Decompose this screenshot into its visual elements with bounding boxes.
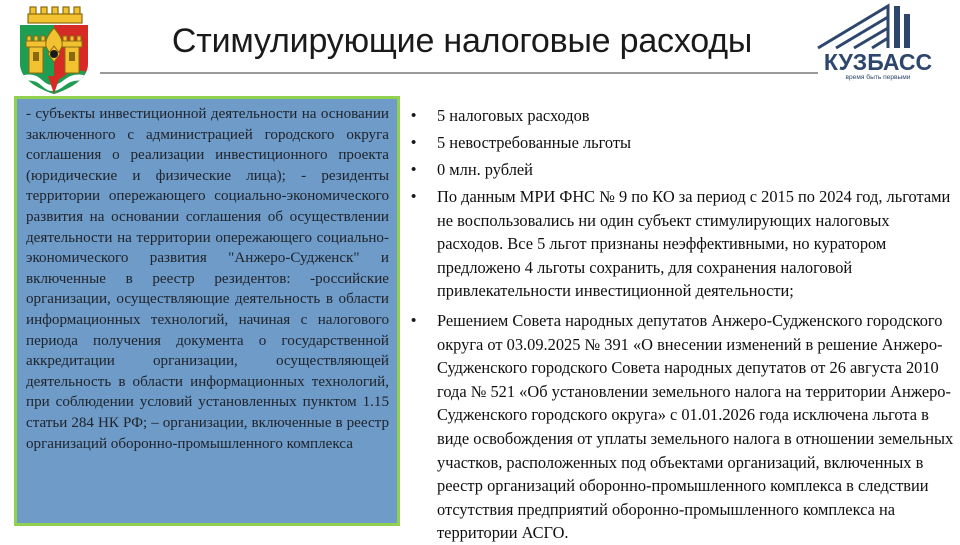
bullet-icon: •	[406, 158, 437, 182]
list-item: • 5 налоговых расходов	[406, 104, 954, 128]
slide-header: Стимулирующие налоговые расходы КУЗБАСС …	[0, 0, 960, 92]
page-title: Стимулирующие налоговые расходы	[112, 16, 812, 68]
bullet-icon: •	[406, 104, 437, 128]
list-item-text: По данным МРИ ФНС № 9 по КО за период с …	[437, 185, 954, 303]
slide: Стимулирующие налоговые расходы КУЗБАСС …	[0, 0, 960, 540]
kuzbass-logo: КУЗБАСС время быть первыми	[802, 2, 954, 82]
bullet-icon: •	[406, 309, 437, 333]
criteria-text: - субъекты инвестиционной деятельности н…	[26, 104, 389, 454]
list-item: • 0 млн. рублей	[406, 158, 954, 182]
list-item-text: 0 млн. рублей	[437, 158, 954, 182]
list-item-text: 5 невостребованные льготы	[437, 131, 954, 155]
bullet-icon: •	[406, 131, 437, 155]
title-divider	[100, 72, 818, 74]
kuzbass-wordmark: КУЗБАСС	[824, 49, 932, 75]
list-item: • По данным МРИ ФНС № 9 по КО за период …	[406, 185, 954, 303]
summary-bullet-list: • 5 налоговых расходов • 5 невостребован…	[406, 104, 954, 524]
city-coat-of-arms-icon	[10, 2, 98, 94]
list-item: • Решением Совета народных депутатов Анж…	[406, 309, 954, 545]
list-item-text: 5 налоговых расходов	[437, 104, 954, 128]
list-item-text: Решением Совета народных депутатов Анжер…	[437, 309, 954, 545]
kuzbass-tagline: время быть первыми	[846, 73, 911, 81]
bullet-icon: •	[406, 185, 437, 209]
list-item: • 5 невостребованные льготы	[406, 131, 954, 155]
stimulating-tax-expenditures-criteria-box: - субъекты инвестиционной деятельности н…	[14, 96, 400, 526]
